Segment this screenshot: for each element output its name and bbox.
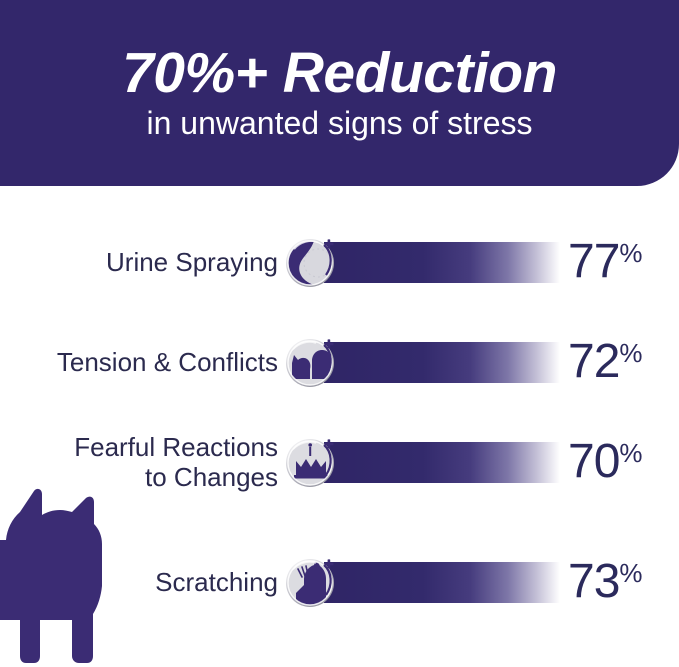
stat-percent-value: 73 xyxy=(568,558,619,606)
percent-symbol: % xyxy=(619,560,641,586)
two-cats-conflict-icon xyxy=(284,335,338,389)
header-title: 70%+ Reduction xyxy=(122,44,557,104)
cat-urine-spraying-icon xyxy=(284,235,338,289)
stat-percent: 72% xyxy=(560,338,679,386)
header-subtitle: in unwanted signs of stress xyxy=(147,106,533,141)
progress-bar-track xyxy=(324,342,560,383)
progress-bar-fill xyxy=(324,342,560,383)
progress-bar-track xyxy=(324,242,560,283)
header-banner: 70%+ Reduction in unwanted signs of stre… xyxy=(0,0,679,186)
stat-row-urine-spraying: Urine Spraying xyxy=(0,232,679,292)
stat-percent: 77% xyxy=(560,238,679,286)
stat-row-tension-conflicts: Tension & Conflicts xyxy=(0,332,679,392)
cat-scratching-icon xyxy=(284,555,338,609)
stat-label: Scratching xyxy=(0,567,288,597)
stat-percent: 70% xyxy=(560,438,679,486)
infographic-page: 70%+ Reduction in unwanted signs of stre… xyxy=(0,0,679,667)
cat-carrier-icon xyxy=(284,435,338,489)
stat-label: Fearful Reactions to Changes xyxy=(0,432,288,492)
stat-percent-value: 72 xyxy=(568,338,619,386)
progress-bar-fill xyxy=(324,242,560,283)
stat-row-fearful-reactions: Fearful Reactions to Changes xyxy=(0,432,679,492)
percent-symbol: % xyxy=(619,440,641,466)
progress-bar-track xyxy=(324,442,560,483)
stat-label: Urine Spraying xyxy=(0,247,288,277)
stat-rows: Urine Spraying xyxy=(0,186,679,667)
progress-bar-fill xyxy=(324,442,560,483)
progress-bar-fill xyxy=(324,562,560,603)
stat-label: Tension & Conflicts xyxy=(0,347,288,377)
stat-percent: 73% xyxy=(560,558,679,606)
progress-bar-track xyxy=(324,562,560,603)
stat-percent-value: 70 xyxy=(568,438,619,486)
percent-symbol: % xyxy=(619,240,641,266)
percent-symbol: % xyxy=(619,340,641,366)
stat-percent-value: 77 xyxy=(568,238,619,286)
